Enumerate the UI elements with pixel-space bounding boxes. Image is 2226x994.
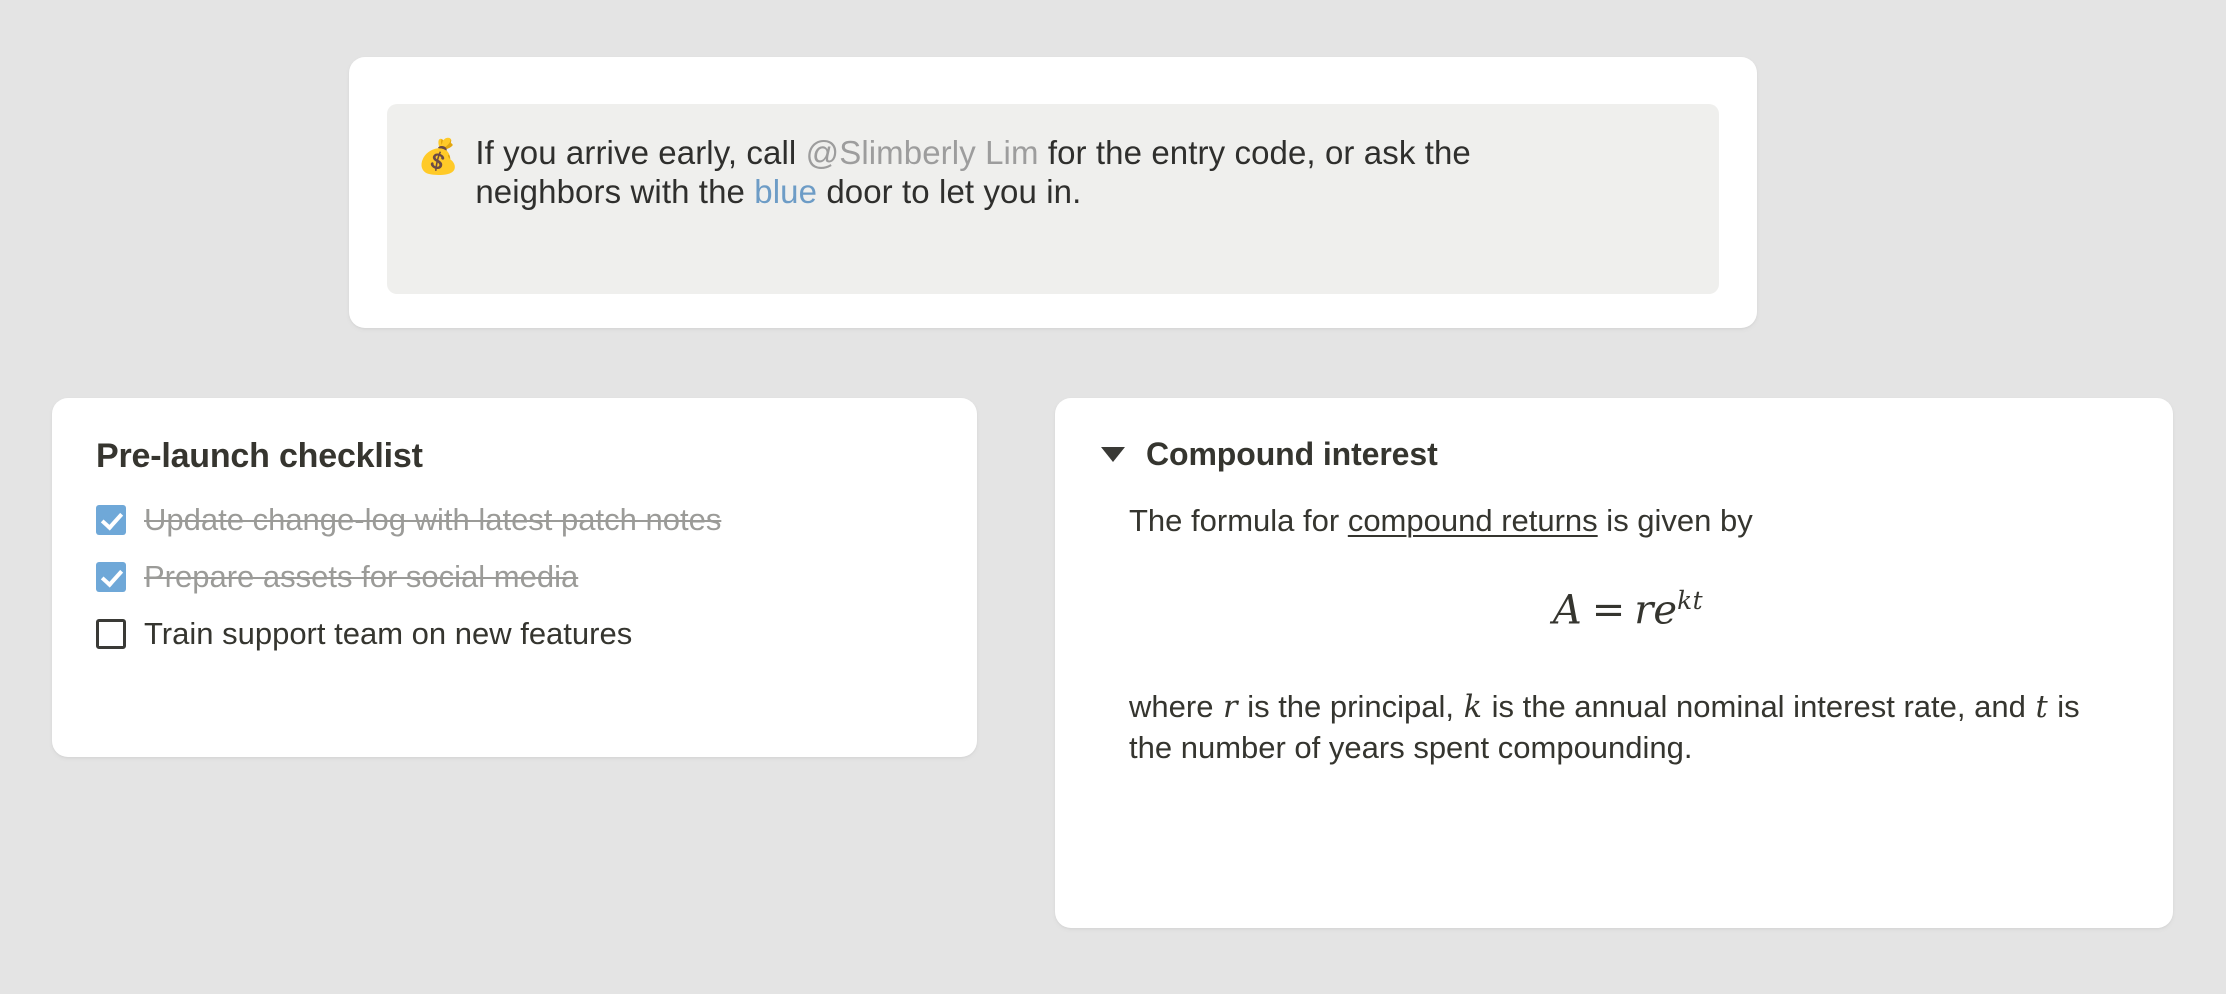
explanation-seg-2: is the principal,: [1239, 689, 1463, 724]
callout-box: 💰 If you arrive early, call @Slimberly L…: [387, 104, 1719, 294]
explanation-seg-3: is the annual nominal interest rate, and: [1483, 689, 2034, 724]
list-item[interactable]: Update change-log with latest patch note…: [96, 502, 933, 538]
math-var-t: t: [2034, 690, 2048, 725]
checkbox-unchecked-icon[interactable]: [96, 619, 126, 649]
checklist-inner: Pre-launch checklist Update change-log w…: [52, 398, 977, 652]
formula-rhs-exponent: kt: [1677, 586, 1703, 615]
mention-slimberly-lim[interactable]: @Slimberly Lim: [806, 134, 1039, 171]
checkbox-checked-icon[interactable]: [96, 562, 126, 592]
page-title: Pre-launch checklist: [96, 437, 933, 476]
page-root: 💰 If you arrive early, call @Slimberly L…: [0, 0, 2226, 994]
details-summary-label: Compound interest: [1146, 436, 1438, 473]
triangle-down-icon[interactable]: [1101, 447, 1125, 462]
callout-text-part-1: If you arrive early, call: [475, 134, 805, 171]
math-formula: A=rekt: [1129, 586, 2127, 633]
details-summary[interactable]: Compound interest: [1097, 436, 2127, 473]
math-var-k: k: [1463, 690, 1483, 725]
list-item-label: Prepare assets for social media: [144, 560, 578, 594]
checkbox-checked-icon[interactable]: [96, 505, 126, 535]
compound-returns-link[interactable]: compound returns: [1348, 503, 1598, 538]
formula-intro-before: The formula for: [1129, 503, 1348, 538]
formula-operator: =: [1592, 587, 1625, 633]
checklist-card: Pre-launch checklist Update change-log w…: [52, 398, 977, 757]
callout-card: 💰 If you arrive early, call @Slimberly L…: [349, 57, 1757, 328]
blue-link[interactable]: blue: [754, 173, 817, 210]
list-item-label: Train support team on new features: [144, 617, 632, 651]
details-card: Compound interest The formula for compou…: [1055, 398, 2173, 928]
callout-text: If you arrive early, call @Slimberly Lim…: [475, 134, 1605, 212]
math-var-r: r: [1222, 690, 1239, 725]
callout-text-part-3: door to let you in.: [817, 173, 1081, 210]
list-item[interactable]: Prepare assets for social media: [96, 559, 933, 595]
explanation-seg-1: where: [1129, 689, 1222, 724]
list-item-label: Update change-log with latest patch note…: [144, 503, 721, 537]
formula-rhs-base: re: [1634, 587, 1677, 633]
formula-intro-after: is given by: [1598, 503, 1753, 538]
formula-explanation-paragraph: where r is the principal, k is the annua…: [1129, 687, 2127, 766]
formula-lhs: A: [1553, 587, 1582, 633]
details-body: The formula for compound returns is give…: [1097, 501, 2127, 767]
details-inner: Compound interest The formula for compou…: [1055, 398, 2173, 767]
formula-intro-paragraph: The formula for compound returns is give…: [1129, 501, 2127, 540]
money-bag-icon: 💰: [417, 136, 459, 179]
list-item[interactable]: Train support team on new features: [96, 616, 933, 652]
